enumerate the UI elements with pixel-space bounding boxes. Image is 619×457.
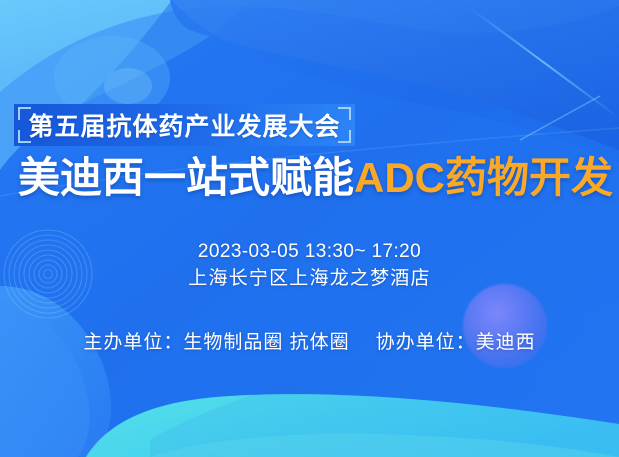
host-names: 生物制品圈 抗体圈 xyxy=(183,332,349,353)
page-title: 美迪西一站式赋能ADC药物开发 xyxy=(18,152,619,204)
host-label: 主办单位： xyxy=(83,332,183,353)
event-datetime: 2023-03-05 13:30~ 17:20 xyxy=(0,238,619,265)
bracket-bottom-left-icon xyxy=(18,130,31,143)
bracket-top-right-icon xyxy=(338,107,351,120)
bracket-bottom-right-icon xyxy=(338,130,351,143)
page-title-orange-part: ADC药物开发 xyxy=(354,154,613,201)
page-title-white-part: 美迪西一站式赋能 xyxy=(18,154,354,201)
organizers-line: 主办单位：生物制品圈 抗体圈协办单位：美迪西 xyxy=(0,327,619,354)
co-host-label: 协办单位： xyxy=(376,332,476,353)
co-host-names: 美迪西 xyxy=(476,332,536,353)
bracket-top-left-icon xyxy=(18,107,31,120)
conference-badge: 第五届抗体药产业发展大会 xyxy=(14,104,355,146)
poster-content: 第五届抗体药产业发展大会 美迪西一站式赋能ADC药物开发 2023-03-05 … xyxy=(0,0,619,457)
conference-badge-label: 第五届抗体药产业发展大会 xyxy=(28,107,340,143)
event-venue: 上海长宁区上海龙之梦酒店 xyxy=(0,265,619,292)
event-meta: 2023-03-05 13:30~ 17:20 上海长宁区上海龙之梦酒店 xyxy=(0,238,619,292)
event-poster: 第五届抗体药产业发展大会 美迪西一站式赋能ADC药物开发 2023-03-05 … xyxy=(0,0,619,457)
